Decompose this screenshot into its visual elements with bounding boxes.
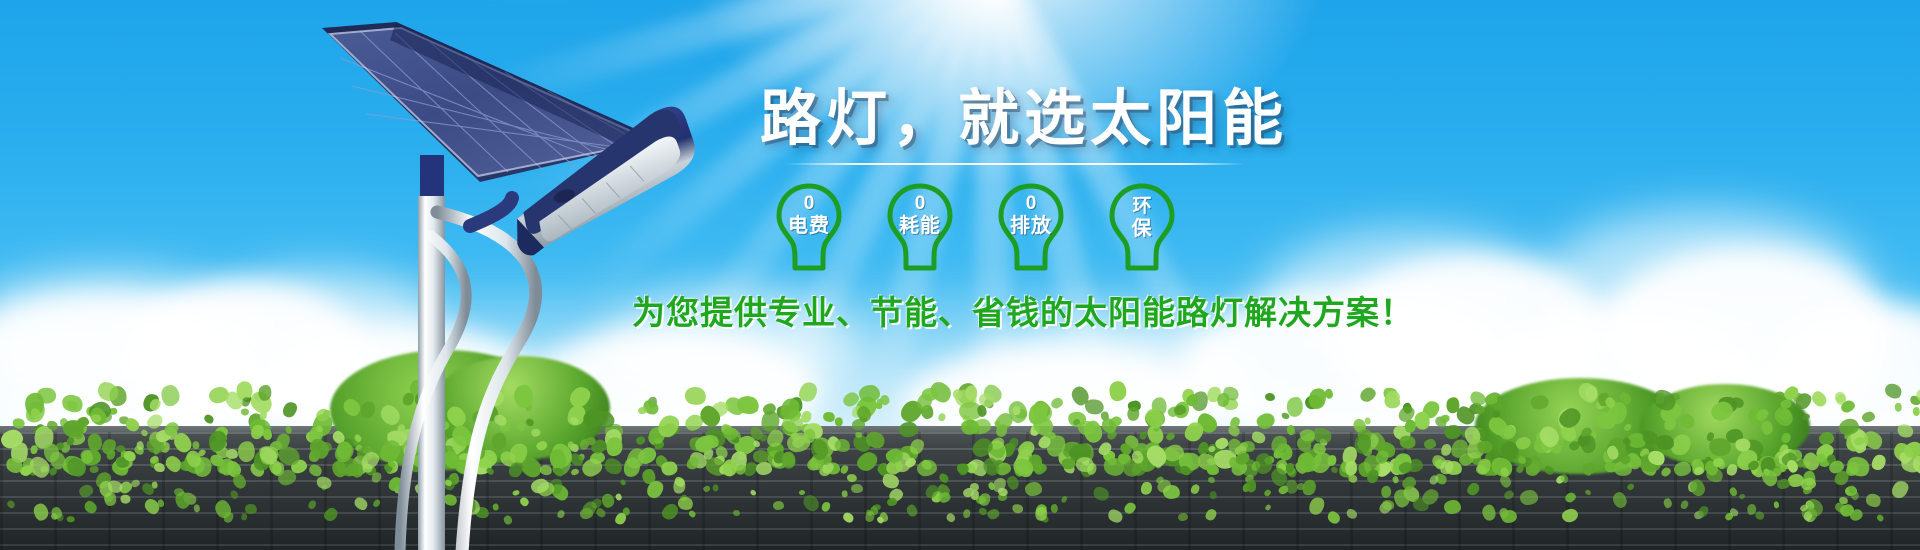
feature-badges: 0 电费 0 耗能 0 排放 — [768, 182, 1460, 274]
banner-copy: 路灯，就选太阳能 0 电费 0 耗能 — [760, 86, 1460, 332]
badge-number: 0 — [768, 193, 850, 215]
headline-divider — [784, 163, 1244, 165]
badge-label: 耗能 — [879, 215, 961, 238]
headline-part2: 太阳能 — [1090, 84, 1288, 152]
feature-badge: 环 保 — [1101, 182, 1183, 274]
badge-number: 0 — [879, 193, 961, 215]
badge-label: 保 — [1101, 218, 1183, 241]
pole-collar — [420, 155, 444, 203]
headline-part1: 路灯，就选 — [760, 84, 1090, 152]
banner-tagline: 为您提供专业、节能、省钱的太阳能路灯解决方案！ — [632, 294, 1460, 332]
badge-label: 排放 — [990, 215, 1072, 238]
feature-badge: 0 电费 — [768, 182, 850, 274]
badge-number: 环 — [1101, 196, 1183, 218]
feature-badge: 0 耗能 — [879, 182, 961, 274]
page-title: 路灯，就选太阳能 — [760, 86, 1460, 150]
feature-badge: 0 排放 — [990, 182, 1072, 274]
badge-label: 电费 — [768, 215, 850, 238]
badge-number: 0 — [990, 193, 1072, 215]
solar-street-light-banner: /* leaves generated below */ — [0, 0, 1920, 550]
